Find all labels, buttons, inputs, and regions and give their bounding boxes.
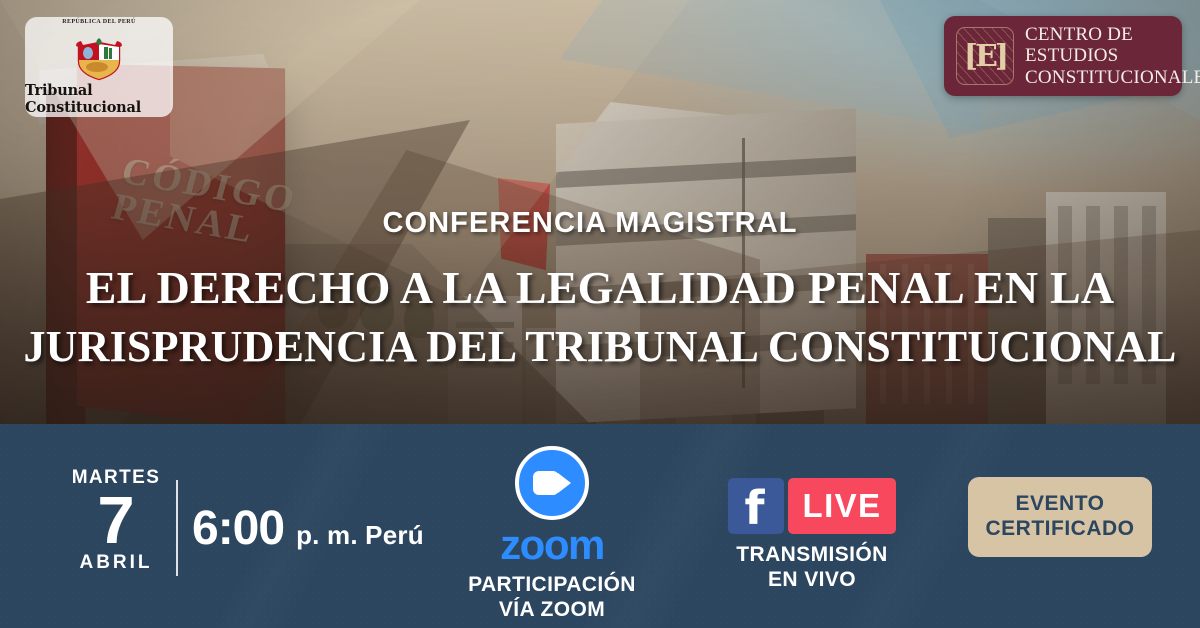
cec-monogram-icon: [E]	[956, 27, 1014, 85]
live-label: LIVE	[803, 487, 882, 525]
zoom-wordmark: zoom	[438, 524, 666, 566]
facebook-caption-line2: EN VIVO	[690, 568, 934, 593]
zoom-camera-icon	[515, 446, 589, 520]
date-day-number: 7	[56, 490, 176, 552]
tribunal-logo-text: Tribunal Constitucional	[25, 82, 173, 116]
headline-line-1: EL DERECHO A LA LEGALIDAD PENAL EN LA	[0, 258, 1200, 318]
video-camera-glyph	[533, 471, 571, 495]
peru-coat-of-arms-icon: REPÚBLICA DEL PERÚ	[51, 19, 147, 81]
facebook-caption: TRANSMISIÓN EN VIVO	[690, 543, 934, 593]
event-headline: EL DERECHO A LA LEGALIDAD PENAL EN LA JU…	[0, 258, 1200, 375]
event-date: MARTES 7 ABRIL	[56, 468, 176, 572]
certified-event-badge: EVENTO CERTIFICADO	[968, 477, 1152, 557]
vertical-divider	[176, 480, 178, 576]
facebook-icon[interactable]: f	[728, 478, 784, 534]
cec-line1: CENTRO DE ESTUDIOS	[1025, 24, 1200, 67]
hero-image-area: CÓDIGO PENAL REPÚBLICA DEL PERÚ	[0, 0, 1200, 424]
event-kicker: CONFERENCIA MAGISTRAL	[0, 207, 1180, 240]
zoom-caption: PARTICIPACIÓN VÍA ZOOM	[438, 573, 666, 623]
event-time: 6:00 p. m. Perú	[192, 505, 424, 553]
zoom-participation-block[interactable]: zoom PARTICIPACIÓN VÍA ZOOM	[438, 446, 666, 623]
live-badge: LIVE	[788, 478, 897, 534]
camera-lens	[558, 473, 571, 493]
time-hour: 6:00	[192, 505, 284, 553]
cec-logo-text: CENTRO DE ESTUDIOS CONSTITUCIONALES	[1025, 24, 1200, 88]
shield-svg	[73, 35, 125, 81]
facebook-caption-line1: TRANSMISIÓN	[690, 543, 934, 568]
certificate-line1: EVENTO	[1016, 492, 1105, 517]
centro-estudios-constitucionales-logo: [E] CENTRO DE ESTUDIOS CONSTITUCIONALES	[944, 16, 1182, 96]
republica-del-peru-text: REPÚBLICA DEL PERÚ	[51, 19, 147, 41]
facebook-live-badges: f LIVE	[690, 478, 934, 534]
certificate-line2: CERTIFICADO	[986, 517, 1135, 542]
date-month: ABRIL	[56, 553, 176, 572]
event-poster: CÓDIGO PENAL REPÚBLICA DEL PERÚ	[0, 0, 1200, 628]
time-meridiem: p. m. Perú	[296, 520, 424, 551]
camera-body	[533, 471, 559, 495]
cec-line2: CONSTITUCIONALES	[1025, 67, 1200, 88]
cec-monogram-text: [E]	[964, 39, 1006, 74]
zoom-caption-line1: PARTICIPACIÓN	[438, 573, 666, 598]
facebook-f-glyph: f	[745, 487, 765, 530]
facebook-live-block[interactable]: f LIVE TRANSMISIÓN EN VIVO	[690, 478, 934, 593]
headline-line-2: JURISPRUDENCIA DEL TRIBUNAL CONSTITUCION…	[0, 318, 1200, 375]
zoom-caption-line2: VÍA ZOOM	[438, 598, 666, 623]
tribunal-constitucional-logo: REPÚBLICA DEL PERÚ Tribunal Constitucion…	[25, 17, 173, 117]
